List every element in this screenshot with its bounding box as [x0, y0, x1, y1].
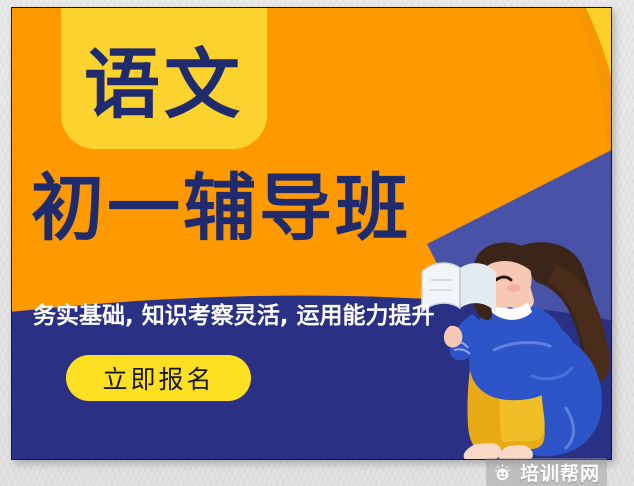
subject-badge: 语文	[61, 7, 267, 149]
sun-face-icon	[492, 462, 513, 483]
page-background: 语文 初一辅导班 务实基础, 知识考察灵活, 运用能力提升 立即报名	[0, 0, 634, 486]
banner-headline: 初一辅导班	[31, 172, 411, 245]
course-promo-banner: 语文 初一辅导班 务实基础, 知识考察灵活, 运用能力提升 立即报名	[11, 7, 612, 460]
woman-reading-book-illustration	[416, 230, 612, 460]
banner-subheadline: 务实基础, 知识考察灵活, 运用能力提升	[33, 296, 435, 330]
watermark-label: 培训帮网	[520, 459, 600, 486]
subject-badge-label: 语文	[84, 47, 244, 149]
watermark: 培训帮网	[486, 458, 607, 486]
enroll-now-button-label: 立即报名	[102, 360, 214, 396]
enroll-now-button[interactable]: 立即报名	[66, 355, 251, 401]
